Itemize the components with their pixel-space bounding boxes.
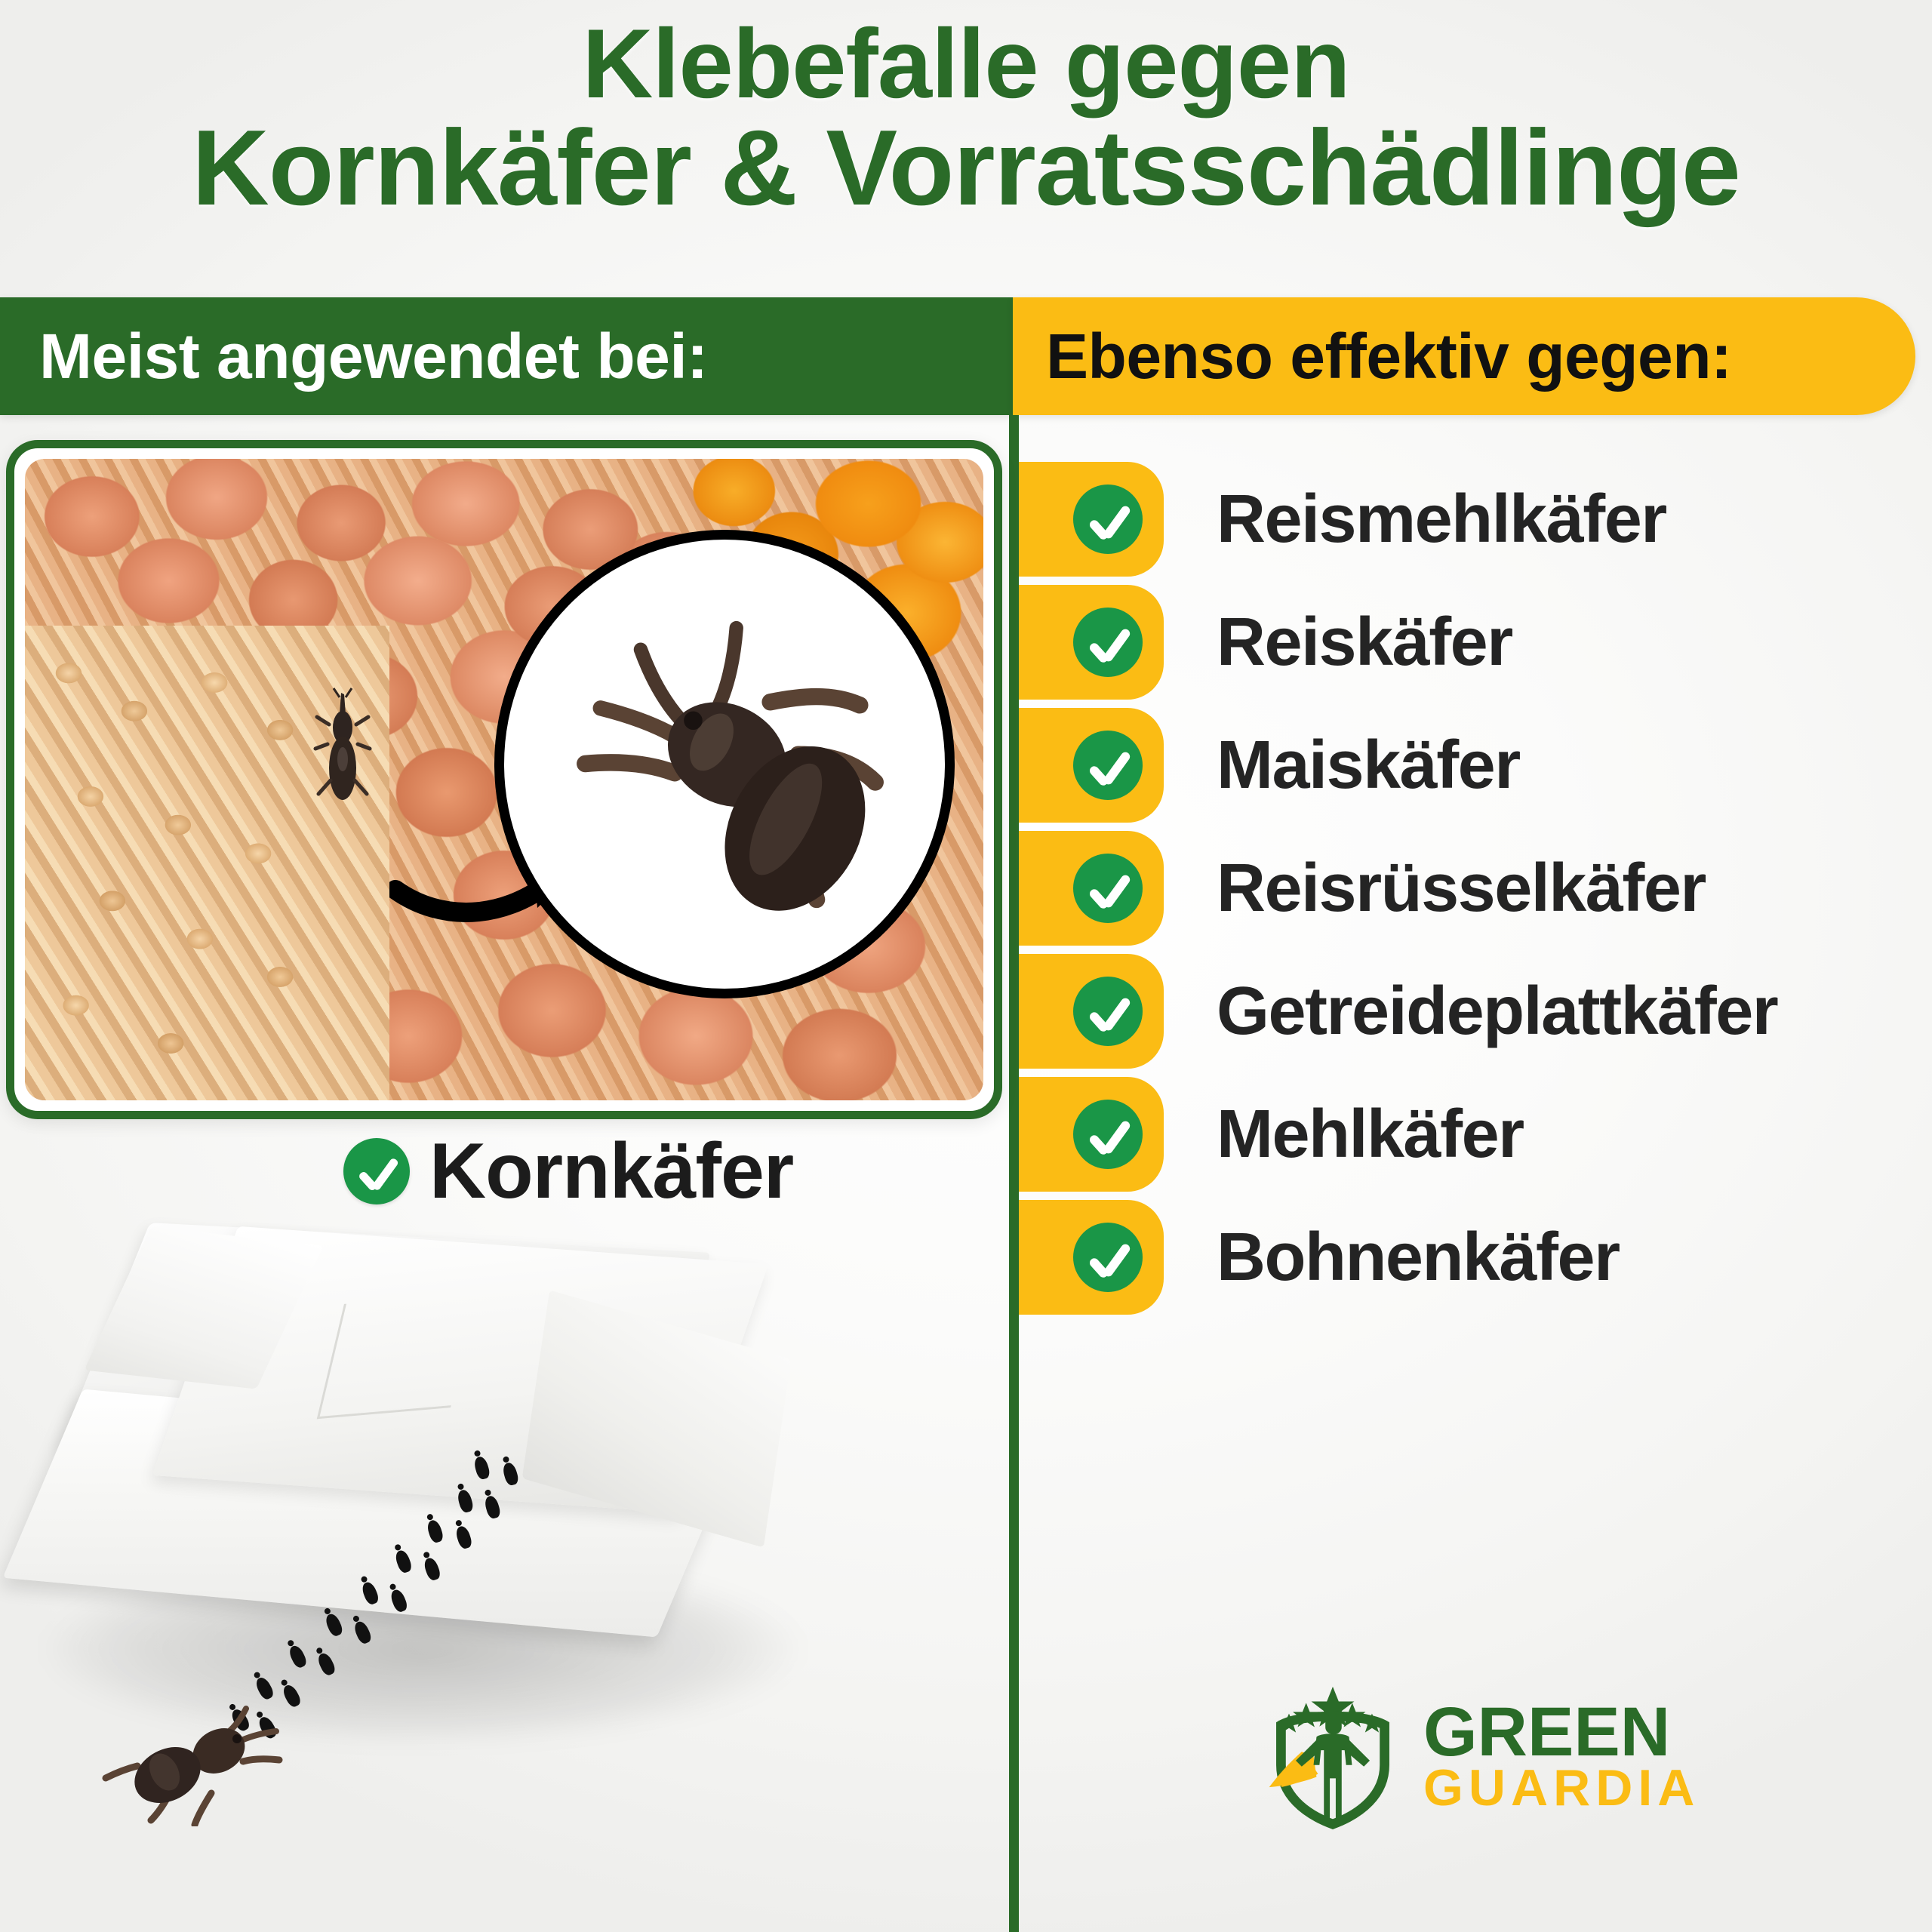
check-circle-icon (1073, 485, 1143, 554)
pest-pill (1019, 585, 1164, 700)
list-item[interactable]: Maiskäfer (1019, 708, 1924, 823)
pest-label: Reismehlkäfer (1217, 485, 1666, 553)
list-item[interactable]: Getreideplattkäfer (1019, 954, 1924, 1069)
brand-logo: GREEN GUARDIA (1259, 1669, 1727, 1843)
pest-pill (1019, 1200, 1164, 1315)
list-item[interactable]: Mehlkäfer (1019, 1077, 1924, 1192)
pest-list: Reismehlkäfer Reiskäfer Maiskäfer Reisrü… (1019, 462, 1924, 1323)
list-item[interactable]: Reiskäfer (1019, 585, 1924, 700)
check-circle-icon (1073, 977, 1143, 1046)
check-circle-icon (1073, 854, 1143, 923)
pest-label: Getreideplattkäfer (1217, 977, 1777, 1045)
weevil-magnified-icon (539, 584, 909, 943)
brand-text: GREEN GUARDIA (1423, 1700, 1700, 1811)
pest-pill (1019, 462, 1164, 577)
page-title: Klebefalle gegen Kornkäfer & Vorratsschä… (0, 14, 1932, 223)
title-line-2: Kornkäfer & Vorratsschädlinge (0, 114, 1932, 223)
weevil-icon (98, 1675, 309, 1826)
infographic-canvas: Klebefalle gegen Kornkäfer & Vorratsschä… (0, 0, 1932, 1932)
weevil-icon (312, 684, 373, 835)
pest-label: Reiskäfer (1217, 608, 1512, 676)
pest-label: Mehlkäfer (1217, 1100, 1524, 1168)
column-divider (1009, 415, 1019, 1932)
check-circle-icon (1073, 731, 1143, 800)
list-item[interactable]: Reisrüsselkäfer (1019, 831, 1924, 946)
list-item[interactable]: Bohnenkäfer (1019, 1200, 1924, 1315)
pest-label: Maiskäfer (1217, 731, 1520, 799)
pest-label: Reisrüsselkäfer (1217, 854, 1706, 922)
header-bar-left: Meist angewendet bei: (0, 297, 1013, 415)
pest-pill (1019, 954, 1164, 1069)
header-left-label: Meist angewendet bei: (0, 320, 708, 393)
title-line-1: Klebefalle gegen (0, 14, 1932, 114)
brand-name-primary: GREEN (1423, 1700, 1700, 1764)
check-circle-icon (1073, 608, 1143, 677)
product-trap-image (15, 1230, 906, 1819)
section-header-bars: Meist angewendet bei: Ebenso effektiv ge… (0, 297, 1932, 415)
header-bar-right: Ebenso effektiv gegen: (1013, 297, 1915, 415)
pest-photo-frame (6, 440, 1002, 1119)
pest-pill (1019, 831, 1164, 946)
pest-pill (1019, 708, 1164, 823)
shield-superhero-icon (1259, 1682, 1407, 1830)
primary-pest-caption: Kornkäfer (343, 1132, 793, 1211)
brand-name-secondary: GUARDIA (1423, 1764, 1700, 1812)
header-right-label: Ebenso effektiv gegen: (1013, 320, 1732, 393)
pest-label: Bohnenkäfer (1217, 1223, 1620, 1291)
pest-photo (25, 459, 983, 1100)
check-circle-icon (343, 1138, 410, 1204)
magnifier-circle (494, 530, 955, 998)
list-item[interactable]: Reismehlkäfer (1019, 462, 1924, 577)
primary-pest-label: Kornkäfer (429, 1132, 793, 1211)
check-circle-icon (1073, 1100, 1143, 1169)
pest-pill (1019, 1077, 1164, 1192)
check-circle-icon (1073, 1223, 1143, 1292)
